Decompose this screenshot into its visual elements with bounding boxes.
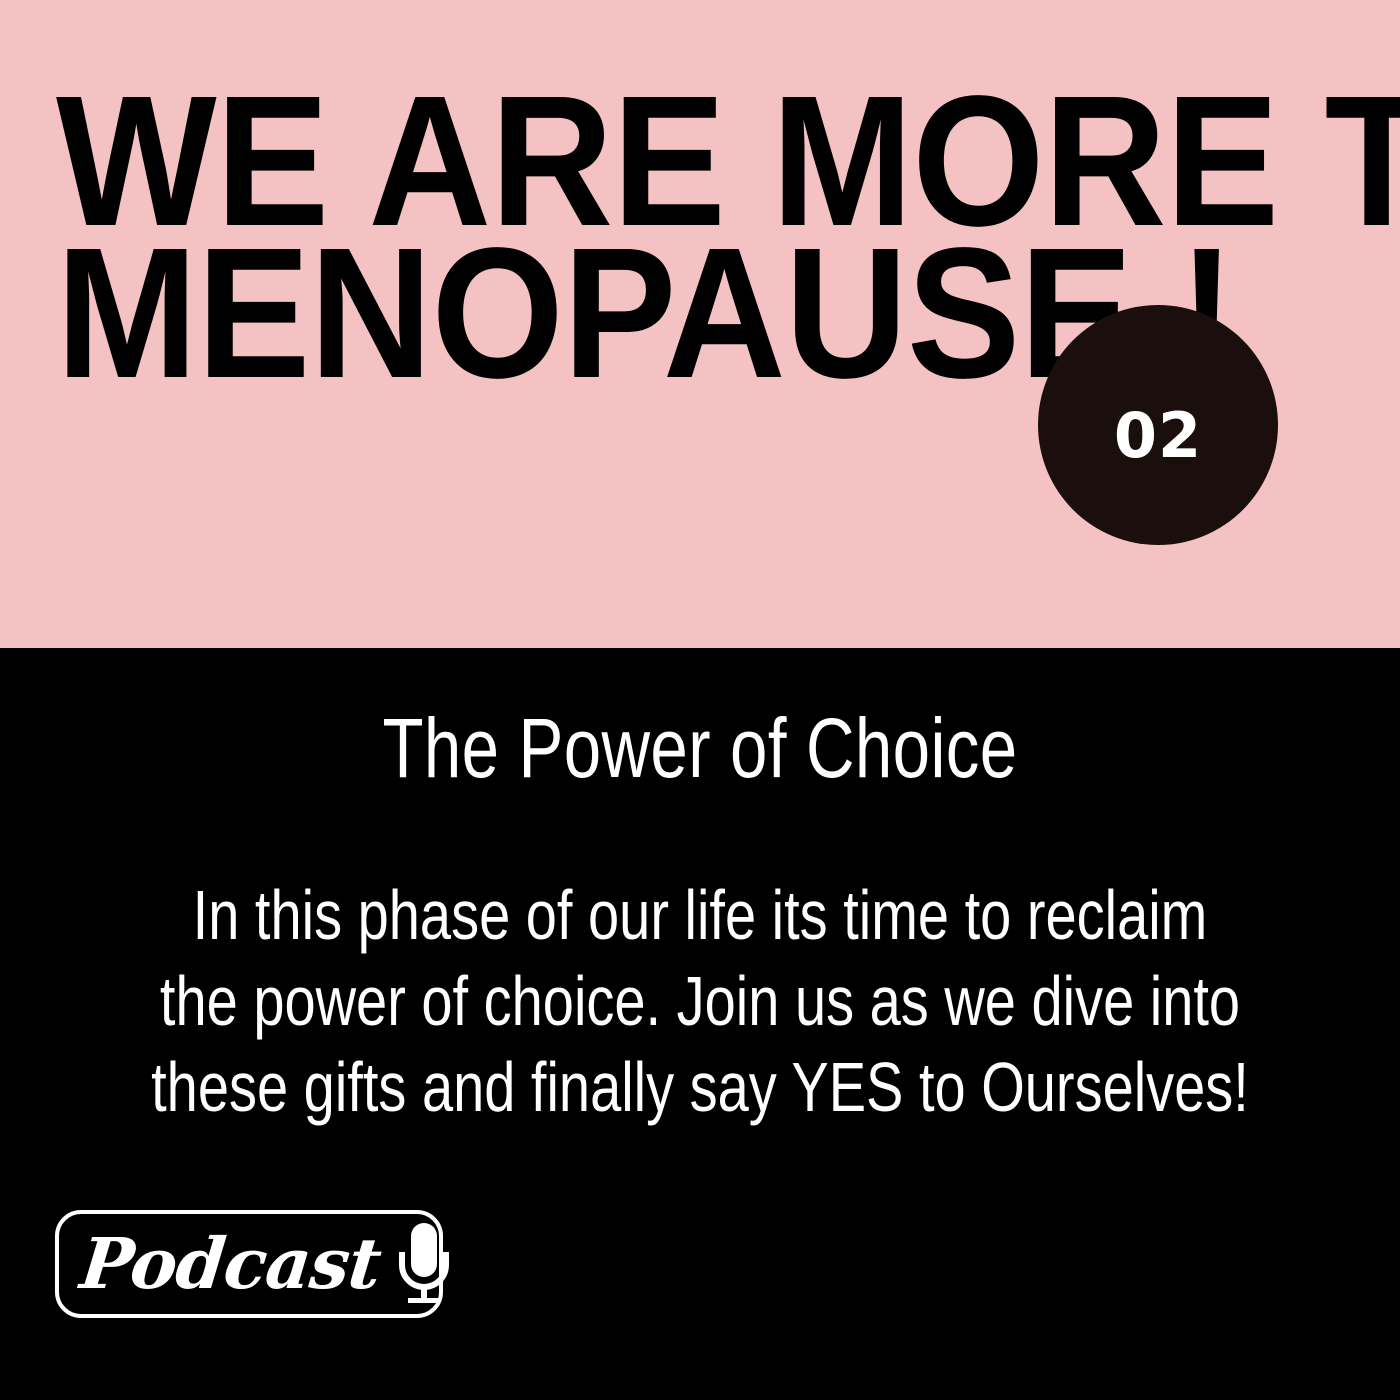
- podcast-episode-cover: WE ARE MORE THAN MENOPAUSE ! 02 The Powe…: [0, 0, 1400, 1400]
- episode-title: The Power of Choice: [140, 702, 1260, 794]
- hero-band: WE ARE MORE THAN MENOPAUSE ! 02: [0, 0, 1400, 648]
- episode-description-line: these gifts and finally say YES to Ourse…: [140, 1044, 1260, 1130]
- headline-line-2: MENOPAUSE !: [56, 238, 1154, 390]
- episode-number-label: 02: [1038, 305, 1278, 545]
- microphone-icon: [394, 1221, 454, 1307]
- episode-number-badge: 02: [1038, 305, 1278, 545]
- episode-description: In this phase of our life its time to re…: [140, 872, 1260, 1130]
- podcast-badge[interactable]: Podcast: [55, 1210, 443, 1318]
- episode-description-line: the power of choice. Join us as we dive …: [140, 958, 1260, 1044]
- podcast-badge-label: Podcast: [77, 1227, 384, 1301]
- episode-description-line: In this phase of our life its time to re…: [140, 872, 1260, 958]
